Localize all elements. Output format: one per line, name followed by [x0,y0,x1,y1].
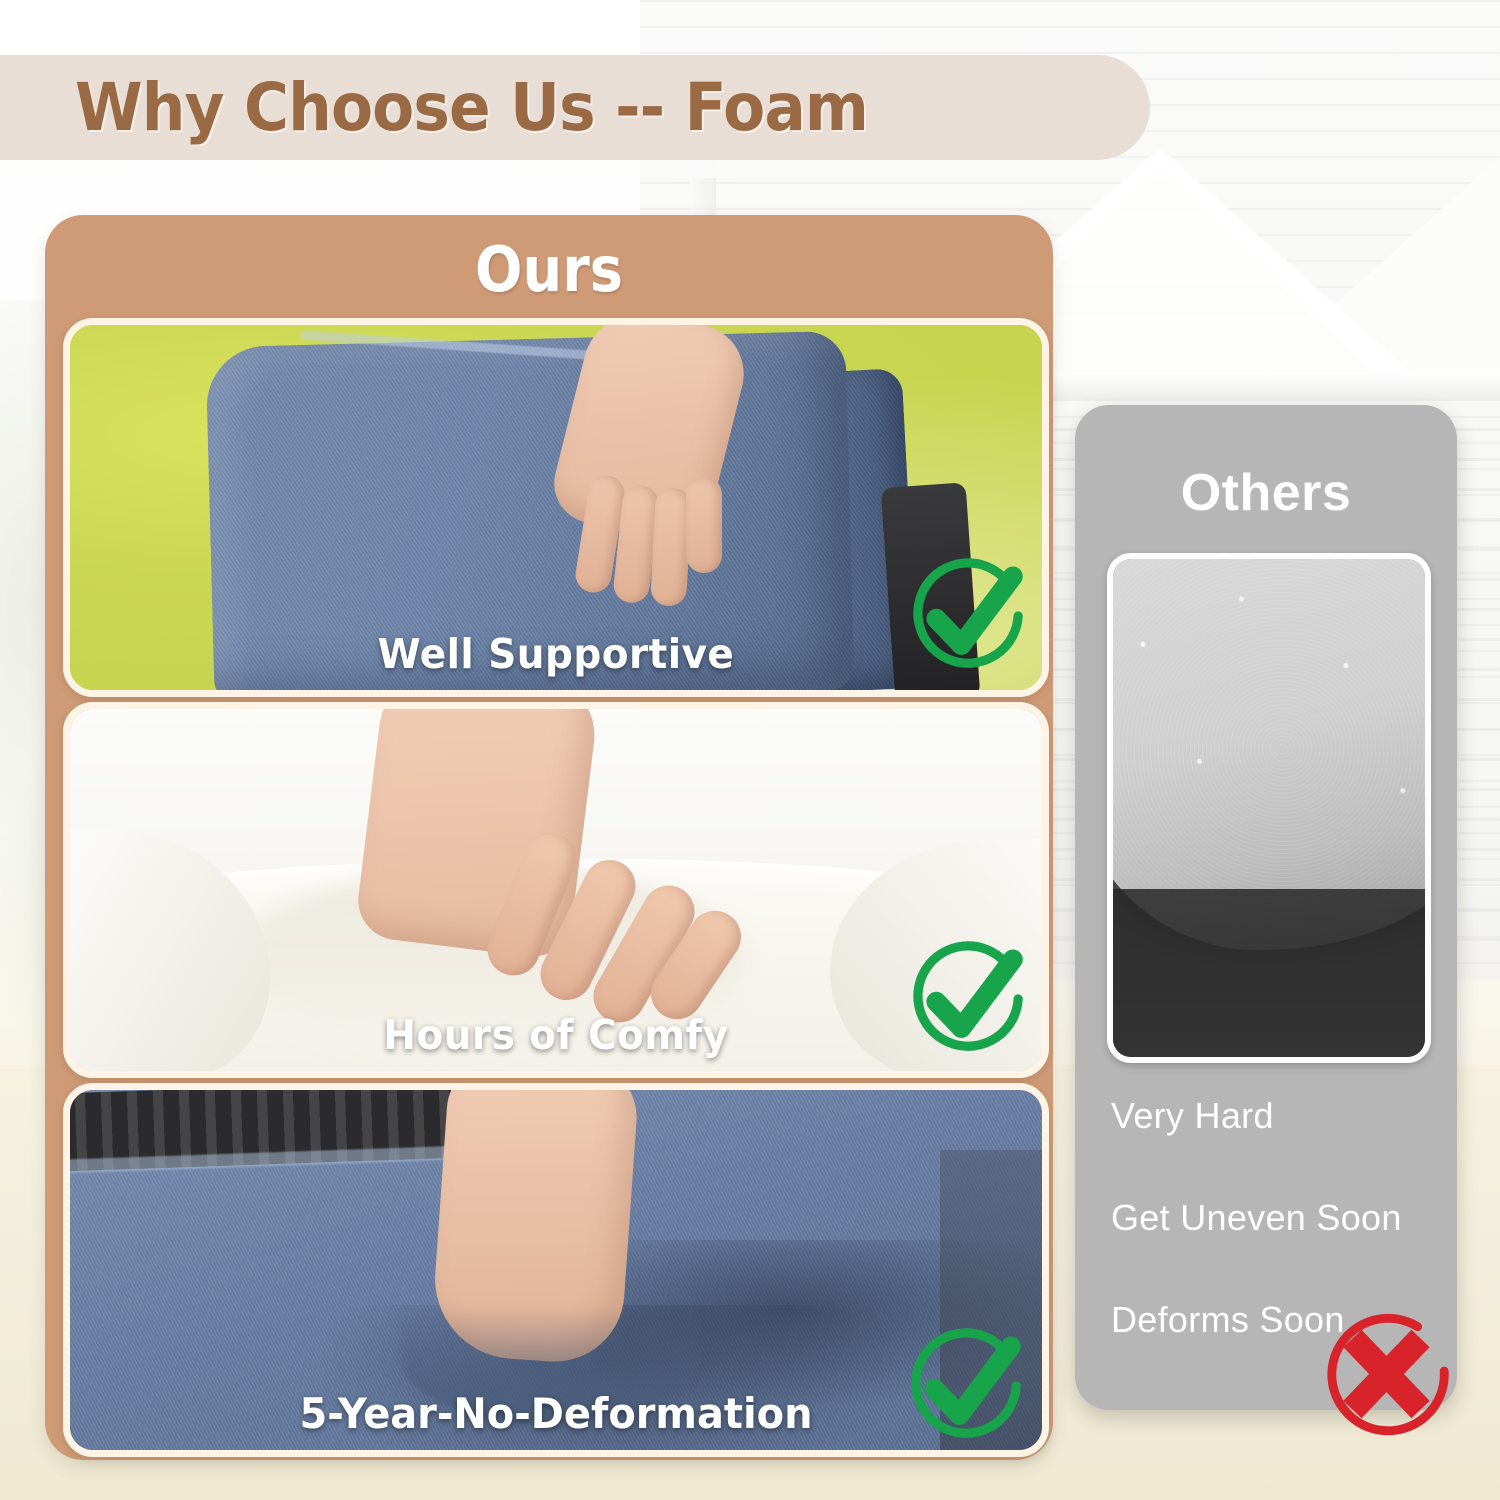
others-panel: Others Very Hard Get Uneven Soon Deforms… [1075,405,1457,1410]
others-drawback-list: Very Hard Get Uneven Soon Deforms Soon [1111,1095,1441,1401]
check-circle-icon [902,933,1034,1065]
ours-panel: Ours Well Supportive [45,215,1053,1460]
others-item-1: Very Hard [1111,1095,1441,1137]
others-item-3: Deforms Soon [1111,1299,1441,1341]
others-item-2: Get Uneven Soon [1111,1197,1441,1239]
title-banner: Why Choose Us -- Foam [0,55,1150,160]
photo-cheap-foam [1107,553,1431,1063]
photo-denim-cushion-press [70,325,1042,690]
photo-foam-press [70,709,1042,1071]
infographic-canvas: Why Choose Us -- Foam Ours Well Supporti… [0,0,1500,1500]
ours-panel-title: Ours [95,233,1002,306]
ours-card-1: Well Supportive [63,318,1049,697]
check-circle-icon [902,550,1034,682]
ours-card-3: 5-Year-No-Deformation [63,1083,1049,1457]
page-title: Why Choose Us -- Foam [75,69,868,146]
others-panel-title: Others [1075,463,1457,523]
photo-denim-cushion-deep-press [70,1090,1042,1450]
ours-card-2: Hours of Comfy [63,702,1049,1078]
check-circle-icon [900,1320,1032,1452]
